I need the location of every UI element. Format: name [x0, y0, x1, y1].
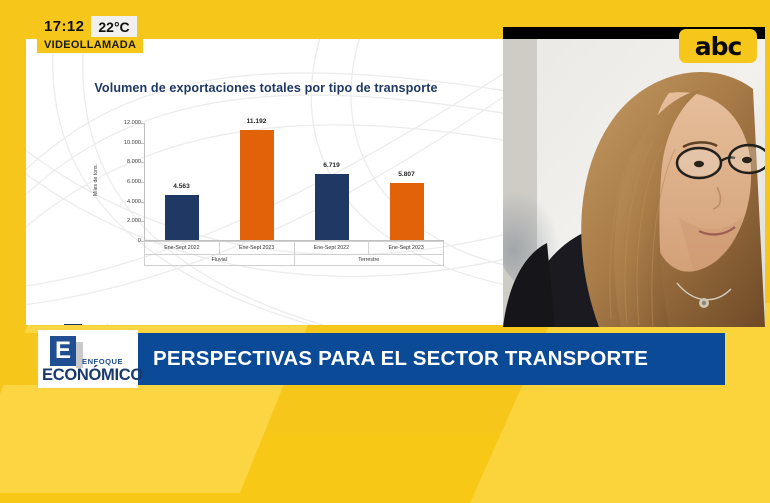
chart-y-axis-label: Miles de tons.: [93, 130, 99, 230]
clock-temperature-bar: 17:12 22°C: [37, 16, 137, 37]
chart-bars: 4.56311.1926.7195.807: [144, 122, 444, 240]
chart-bar-cell: 11.192: [219, 122, 294, 240]
abc-network-logo: abc: [679, 29, 757, 63]
chart-category-label: Ene-Sept 2022: [144, 241, 220, 255]
mode-badge: VIDEOLLAMADA: [37, 37, 143, 53]
mf-logo: MF ECONOMÍA INVERSIONES: [64, 324, 118, 325]
chart-category-label: Ene-Sept 2023: [220, 241, 295, 255]
temperature-readout: 22°C: [91, 16, 136, 37]
chart-bar-cell: 4.563: [144, 122, 219, 240]
y-tick-label: 6.000: [127, 179, 141, 185]
y-tick-label: 4.000: [127, 199, 141, 205]
abc-logo-text: abc: [695, 34, 742, 59]
y-tick-label: 12.000: [124, 120, 141, 126]
chart-bar-value-label: 4.563: [173, 183, 190, 190]
chart-bar-value-label: 6.719: [323, 162, 340, 169]
chart-group-row: FluvialTerrestre: [144, 254, 444, 266]
presentation-slide: Volumen de exportaciones totales por tip…: [26, 39, 503, 325]
chart-group-label: Fluvial: [144, 254, 295, 266]
chart-title: Volumen de exportaciones totales por tip…: [66, 81, 466, 95]
program-logo-mark: E: [50, 336, 76, 366]
lower-third-banner: PERSPECTIVAS PARA EL SECTOR TRANSPORTE: [136, 333, 725, 385]
chart-category-label: Ene-Sept 2022: [295, 241, 370, 255]
program-name-top: ENFOQUE: [82, 357, 123, 366]
chart-bar: 5.807: [390, 183, 424, 240]
chart-bar-value-label: 11.192: [247, 118, 267, 125]
video-feed-image: [503, 27, 765, 327]
program-logo: E ENFOQUE ECONÓMICO: [38, 330, 138, 388]
chart-bar: 11.192: [240, 130, 274, 240]
y-tick-label: 8.000: [127, 159, 141, 165]
program-name-bottom: ECONÓMICO: [42, 366, 143, 385]
y-tick-label: 2.000: [127, 218, 141, 224]
chart-group-label: Terrestre: [295, 254, 445, 266]
chart-category-label: Ene-Sept 2023: [369, 241, 444, 255]
chart-axes: 0 2.000 4.000 6.000 8.000 10.000 12.000: [144, 123, 444, 241]
chart-category-row: Ene-Sept 2022Ene-Sept 2023Ene-Sept 2022E…: [144, 241, 444, 255]
top-yellow-band: [0, 0, 770, 14]
chart-bar-value-label: 5.807: [398, 171, 415, 178]
chart-bar: 6.719: [315, 174, 349, 240]
chart-bar-cell: 6.719: [294, 122, 369, 240]
mf-logo-mark: MF: [64, 324, 82, 325]
chart-plot-area: Miles de tons. 0 2.000 4.000 6.000 8.000…: [104, 119, 484, 294]
clock-readout: 17:12: [37, 16, 91, 37]
broadcast-screen: Volumen de exportaciones totales por tip…: [0, 0, 770, 433]
y-tick-label: 10.000: [124, 140, 141, 146]
guest-video-panel: abc: [503, 27, 765, 327]
chart-bar-cell: 5.807: [369, 122, 444, 240]
chart-bar: 4.563: [165, 195, 199, 240]
lower-third-headline: PERSPECTIVAS PARA EL SECTOR TRANSPORTE: [136, 347, 648, 371]
banner-left-accent: [0, 333, 40, 385]
